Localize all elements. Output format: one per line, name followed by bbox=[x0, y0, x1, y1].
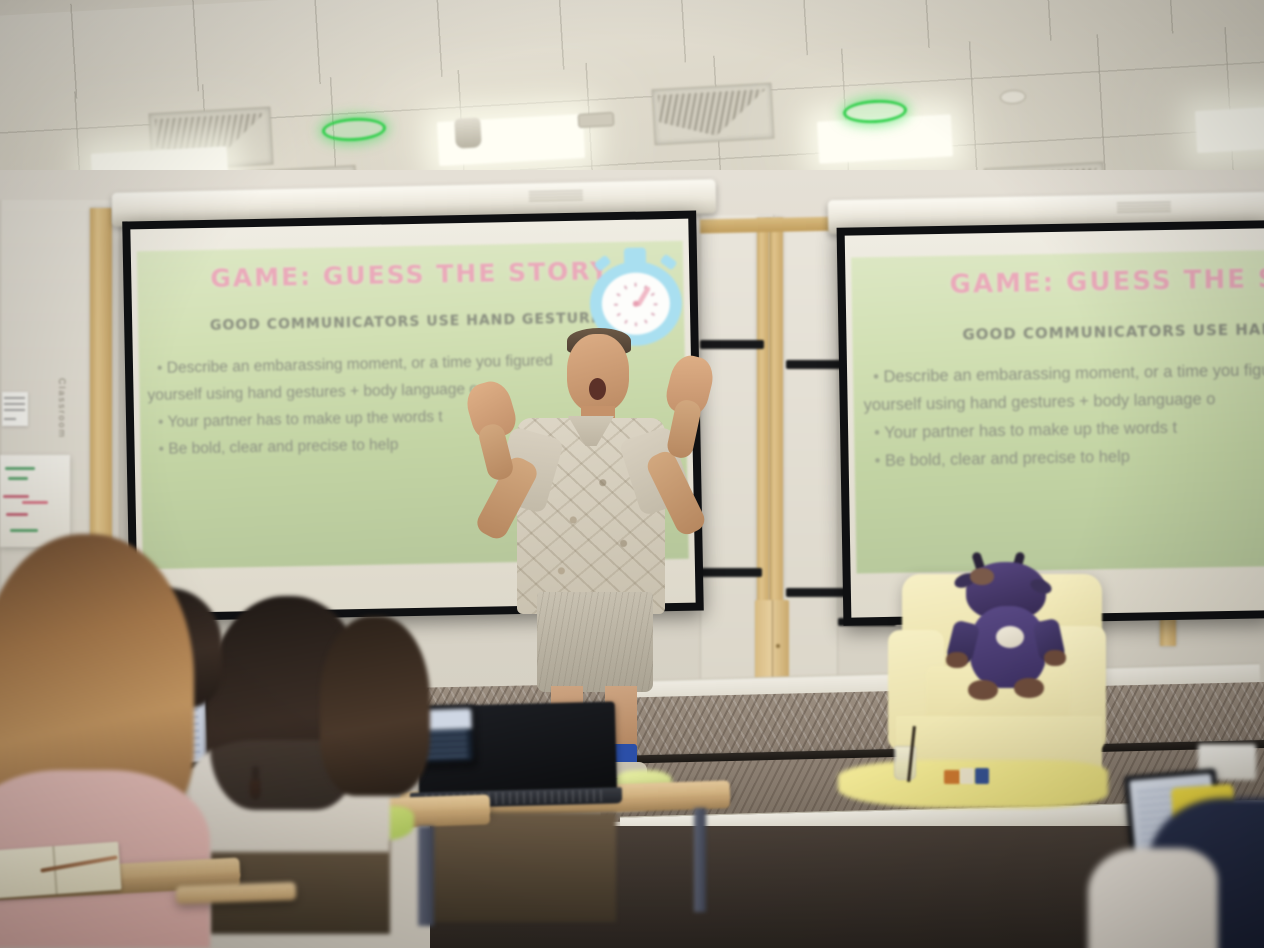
bullet-text-cont: yourself using hand gestures + body lang… bbox=[147, 381, 478, 404]
plush-snout bbox=[970, 568, 994, 585]
desk-leg bbox=[418, 826, 434, 926]
bullet-text: Describe an embarassing moment, or a tim… bbox=[883, 361, 1264, 386]
slide-bullets-right: • Describe an embarassing moment, or a t… bbox=[873, 356, 1264, 475]
bullet-text: Your partner has to make up the words t bbox=[884, 419, 1177, 442]
wall-rail bbox=[786, 588, 850, 597]
bullet-marker: • bbox=[158, 436, 164, 463]
air-vent bbox=[652, 83, 775, 146]
bullet-text: Your partner has to make up the words t bbox=[167, 408, 442, 430]
flipchart-paper bbox=[0, 455, 70, 547]
vertical-wall-sign: Classroom bbox=[57, 378, 67, 439]
slide-right: GAME: GUESS THE STORY GOOD COMMUNICATORS… bbox=[851, 246, 1264, 573]
presenter-mouth bbox=[589, 378, 606, 400]
student-center-right bbox=[320, 616, 430, 796]
plush-foot-left bbox=[968, 680, 998, 700]
plush-foot-right bbox=[1014, 678, 1044, 698]
open-notebook bbox=[0, 842, 122, 899]
plush-hoof-left bbox=[946, 652, 968, 668]
slide-title-right: GAME: GUESS THE STORY bbox=[949, 260, 1264, 299]
smoke-detector bbox=[578, 112, 615, 128]
draped-armchair bbox=[880, 548, 1130, 798]
bullet-marker: • bbox=[873, 363, 879, 391]
recessed-light bbox=[1195, 105, 1264, 153]
plush-hoof-right bbox=[1044, 650, 1066, 666]
bullet-text: Be bold, clear and precise to help bbox=[168, 436, 398, 457]
student-foreground-right-arm bbox=[1088, 848, 1218, 948]
sprinkler-head bbox=[454, 117, 482, 148]
paint-pot bbox=[960, 768, 974, 784]
desk-modesty-panel bbox=[430, 812, 616, 922]
bullet-text: Be bold, clear and precise to help bbox=[885, 448, 1130, 470]
bullet-marker: • bbox=[874, 419, 880, 447]
plush-belly-patch bbox=[996, 626, 1024, 648]
floor-cloth bbox=[838, 760, 1108, 808]
bullet-marker: • bbox=[157, 355, 163, 382]
paint-pot bbox=[944, 770, 960, 784]
bullet-marker: • bbox=[874, 447, 880, 475]
bullet-text-cont: yourself using hand gestures + body lang… bbox=[864, 390, 1216, 414]
wood-beam-horizontal bbox=[700, 217, 840, 234]
bullet-marker: • bbox=[158, 409, 164, 436]
presenter-shorts bbox=[537, 592, 653, 692]
classroom-photo: Classroom GAME: GUESS THE STORY GOOD COM… bbox=[0, 0, 1264, 948]
wall-notice bbox=[2, 392, 28, 426]
slide-subtitle-right: GOOD COMMUNICATORS USE HAND GESTURES bbox=[962, 316, 1264, 343]
desk-leg bbox=[694, 808, 706, 912]
presenter-head bbox=[567, 334, 629, 412]
paint-pot bbox=[975, 768, 989, 784]
cow-plush-toy bbox=[952, 552, 1062, 712]
